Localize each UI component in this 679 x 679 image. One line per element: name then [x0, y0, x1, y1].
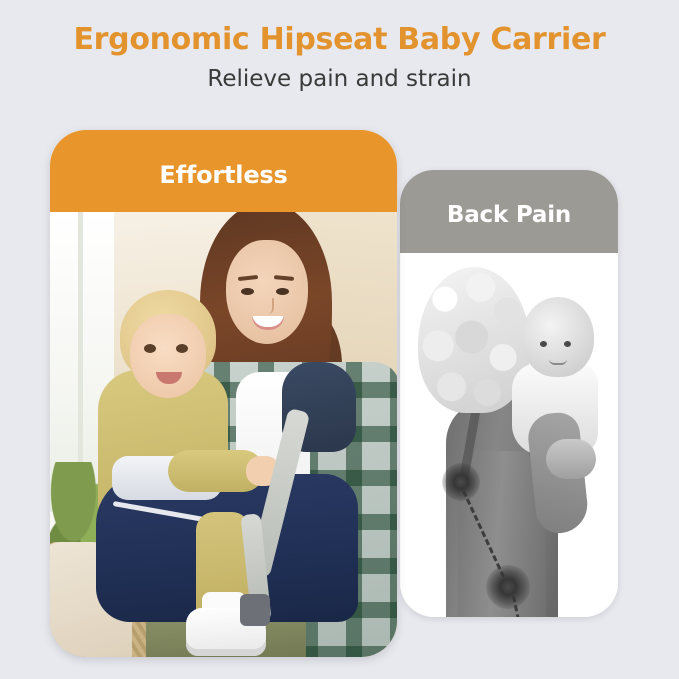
- card-effortless: Effortless: [50, 130, 397, 657]
- mother-eye-right: [276, 288, 289, 295]
- baby-face: [130, 314, 206, 398]
- card-effortless-label: Effortless: [159, 161, 287, 189]
- mother-eye-left: [241, 288, 254, 295]
- baby-smile: [156, 372, 182, 384]
- card-effortless-header: Effortless: [50, 130, 397, 212]
- baby-eye-right: [176, 344, 188, 353]
- mother-brow-left: [238, 275, 258, 281]
- baby-arm: [546, 439, 596, 479]
- mother-face: [226, 240, 308, 344]
- mother-smile: [252, 316, 284, 330]
- pain-marker-mid-back-icon: [486, 565, 530, 609]
- baby-mouth: [549, 359, 567, 365]
- baby-eye-right: [564, 341, 571, 347]
- infographic-page: Ergonomic Hipseat Baby Carrier Relieve p…: [0, 0, 679, 679]
- mother-nose: [264, 298, 274, 314]
- baby-head: [522, 297, 594, 377]
- page-subtitle: Relieve pain and strain: [0, 66, 679, 92]
- mother-brow-right: [274, 275, 294, 281]
- card-back-pain: Back Pain: [400, 170, 618, 617]
- page-title: Ergonomic Hipseat Baby Carrier: [0, 22, 679, 57]
- back-pain-illustration: [400, 253, 618, 617]
- pain-marker-neck-icon: [442, 463, 480, 501]
- card-back-pain-label: Back Pain: [447, 202, 571, 228]
- baby-eye-left: [540, 341, 547, 347]
- card-back-pain-header: Back Pain: [400, 170, 618, 253]
- effortless-illustration: [50, 212, 397, 657]
- baby-eye-left: [144, 344, 156, 353]
- card-back-pain-photo: [400, 253, 618, 617]
- carrier-buckle: [240, 594, 270, 626]
- card-effortless-photo: [50, 212, 397, 657]
